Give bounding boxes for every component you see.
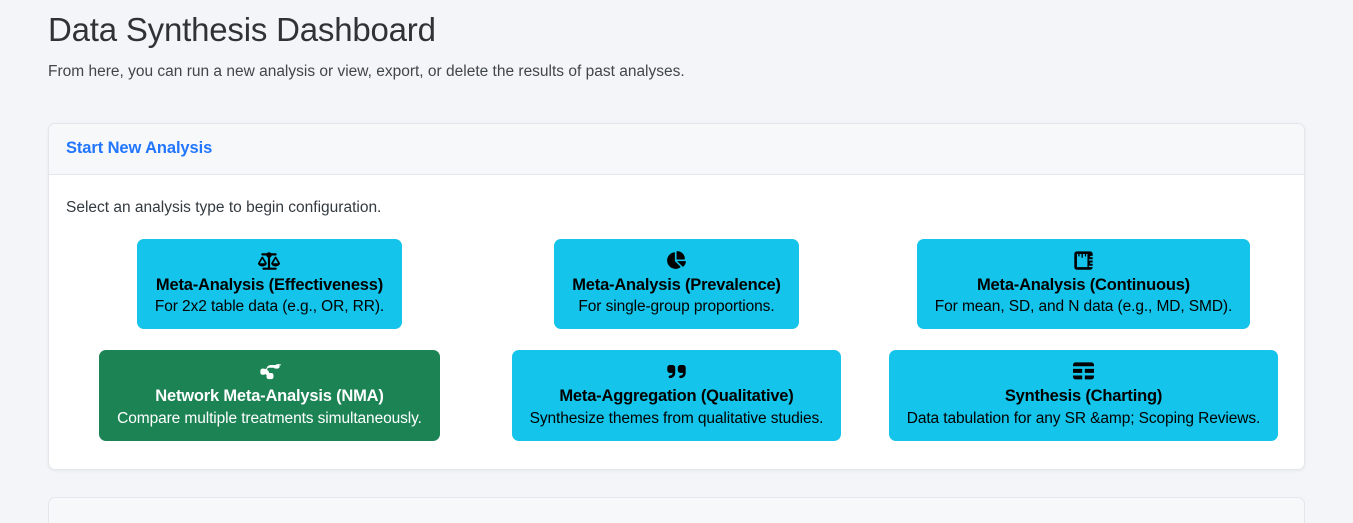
analysis-instruction: Select an analysis type to begin configu… — [66, 197, 1287, 219]
analysis-tile-description: Data tabulation for any SR &amp; Scoping… — [907, 410, 1261, 428]
analysis-tile-description: For 2x2 table data (e.g., OR, RR). — [155, 298, 384, 316]
analysis-tile-title: Synthesis (Charting) — [907, 387, 1261, 406]
analysis-tile-title: Meta-Analysis (Continuous) — [935, 276, 1232, 295]
card-header: Start New Analysis — [49, 124, 1304, 175]
analysis-tile-meta-analysis-prevalence[interactable]: Meta-Analysis (Prevalence) For single-gr… — [554, 239, 798, 330]
quote-right-icon — [530, 361, 824, 383]
analysis-type-cell: Network Meta-Analysis (NMA) Compare mult… — [66, 350, 473, 441]
scale-balanced-icon — [155, 250, 384, 272]
analysis-tile-synthesis-charting[interactable]: Synthesis (Charting) Data tabulation for… — [889, 350, 1279, 441]
analysis-type-cell: Meta-Analysis (Prevalence) For single-gr… — [473, 239, 880, 330]
table-grid-icon — [907, 361, 1261, 383]
analysis-type-cell: Meta-Aggregation (Qualitative) Synthesiz… — [473, 350, 880, 441]
analysis-type-cell: Synthesis (Charting) Data tabulation for… — [880, 350, 1287, 441]
analysis-tile-title: Network Meta-Analysis (NMA) — [117, 387, 422, 406]
analysis-type-grid: Meta-Analysis (Effectiveness) For 2x2 ta… — [66, 239, 1287, 442]
analysis-tile-meta-analysis-continuous[interactable]: Meta-Analysis (Continuous) For mean, SD,… — [917, 239, 1250, 330]
analysis-tile-description: For mean, SD, and N data (e.g., MD, SMD)… — [935, 298, 1232, 316]
dashboard-page: Data Synthesis Dashboard From here, you … — [0, 0, 1353, 523]
analysis-tile-meta-aggregation-qualitative[interactable]: Meta-Aggregation (Qualitative) Synthesiz… — [512, 350, 842, 441]
ruler-icon — [935, 250, 1232, 272]
analysis-type-cell: Meta-Analysis (Effectiveness) For 2x2 ta… — [66, 239, 473, 330]
analysis-type-cell: Meta-Analysis (Continuous) For mean, SD,… — [880, 239, 1287, 330]
start-new-analysis-card: Start New Analysis Select an analysis ty… — [48, 123, 1305, 470]
analysis-tile-description: For single-group proportions. — [572, 298, 780, 316]
page-subtitle: From here, you can run a new analysis or… — [48, 50, 1305, 83]
card-body: Select an analysis type to begin configu… — [49, 175, 1304, 469]
analysis-tile-description: Compare multiple treatments simultaneous… — [117, 410, 422, 428]
analysis-tile-description: Synthesize themes from qualitative studi… — [530, 410, 824, 428]
pie-chart-icon — [572, 250, 780, 272]
analysis-tile-title: Meta-Analysis (Prevalence) — [572, 276, 780, 295]
share-nodes-icon — [117, 361, 422, 383]
next-card-partial — [48, 497, 1305, 523]
analysis-tile-network-meta-analysis[interactable]: Network Meta-Analysis (NMA) Compare mult… — [99, 350, 440, 441]
analysis-tile-title: Meta-Analysis (Effectiveness) — [155, 276, 384, 295]
card-header-title[interactable]: Start New Analysis — [66, 139, 212, 157]
analysis-tile-title: Meta-Aggregation (Qualitative) — [530, 387, 824, 406]
analysis-tile-meta-analysis-effectiveness[interactable]: Meta-Analysis (Effectiveness) For 2x2 ta… — [137, 239, 402, 330]
page-title: Data Synthesis Dashboard — [48, 0, 1305, 50]
